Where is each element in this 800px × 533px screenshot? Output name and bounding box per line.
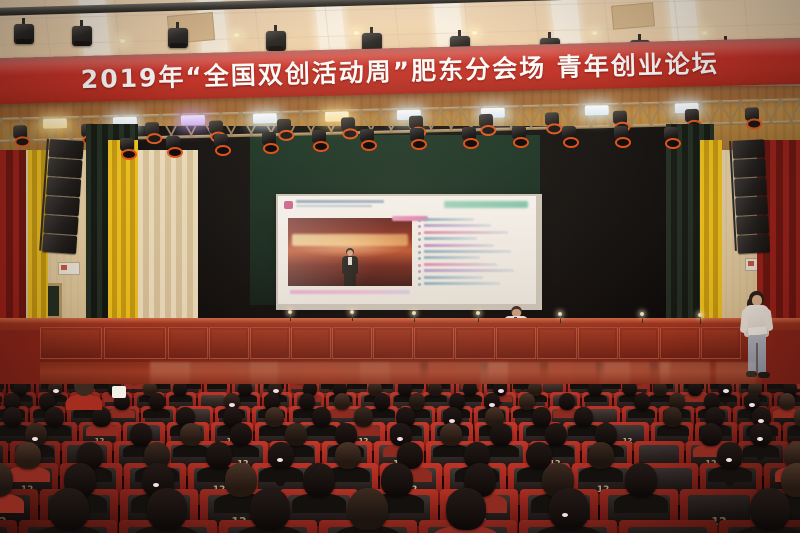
audience-head xyxy=(312,407,331,427)
microphone-head-7 xyxy=(698,313,702,317)
audience-head xyxy=(717,442,743,469)
seat xyxy=(619,520,717,533)
audience-head xyxy=(440,423,462,446)
audience-head xyxy=(779,393,795,410)
audience-hair-tie xyxy=(562,513,568,517)
woman-right-shoe xyxy=(758,372,770,378)
audience-head xyxy=(559,393,575,410)
stage-par-can-lower-1 xyxy=(120,138,134,156)
audience-head xyxy=(398,384,412,396)
microphone-row xyxy=(0,0,800,400)
woman-leg-gap xyxy=(756,343,758,373)
stage-par-can-lower-6 xyxy=(360,129,374,147)
audience-head xyxy=(688,384,702,396)
audience-head xyxy=(206,442,232,469)
stage-par-can-lower-3 xyxy=(214,134,228,152)
par-can-ring xyxy=(313,141,329,152)
par-can-ring xyxy=(263,143,279,154)
stage-par-can-lower-7 xyxy=(410,128,424,146)
audience-hair-tie xyxy=(153,483,159,487)
audience-head xyxy=(794,407,800,427)
seat-cushion xyxy=(628,527,706,533)
audience-head xyxy=(149,393,165,410)
audience-head xyxy=(634,393,650,410)
par-can-ring xyxy=(463,138,479,149)
par-can-ring xyxy=(167,147,183,158)
audience-head xyxy=(463,384,477,396)
audience-head xyxy=(354,407,373,427)
audience-head xyxy=(130,423,152,446)
audience-hair-tie xyxy=(749,403,755,407)
audience-head xyxy=(446,488,486,530)
audience-shoulders xyxy=(347,384,367,389)
floor-reflection-dark-2 xyxy=(480,362,488,380)
microphone-head-2 xyxy=(350,310,354,314)
microphone-head-5 xyxy=(558,312,562,316)
audience-head xyxy=(147,488,187,530)
floor-reflection-dark-5 xyxy=(650,362,658,380)
audience-head xyxy=(750,488,790,530)
audience-head xyxy=(238,384,252,396)
stage-par-can-lower-9 xyxy=(512,126,526,144)
audience-head xyxy=(268,442,294,469)
microphone-head-3 xyxy=(412,311,416,315)
audience-hair-tie xyxy=(489,403,495,407)
floor-reflection-dark-4 xyxy=(596,362,604,380)
par-can-ring xyxy=(615,137,631,148)
audience-head xyxy=(549,488,589,530)
par-can-ring xyxy=(665,138,681,149)
stage-par-can-lower-4 xyxy=(262,132,276,150)
stage-par-can-lower-2 xyxy=(166,136,180,154)
audience-shoulders xyxy=(124,384,144,389)
audience-head xyxy=(348,488,388,530)
audience-head xyxy=(180,423,202,446)
audience-shoulders xyxy=(207,384,227,389)
audience-head xyxy=(750,423,772,446)
audience-head xyxy=(663,407,682,427)
audience-hair-tie xyxy=(758,419,764,423)
par-can-ring xyxy=(411,139,427,150)
stage-par-can-lower-10 xyxy=(562,126,576,144)
audience-head xyxy=(299,393,315,410)
audience-head xyxy=(519,393,535,410)
audience-head xyxy=(303,463,335,497)
audience-head xyxy=(3,407,22,427)
stage-par-can-lower-11 xyxy=(614,126,628,144)
audience-head xyxy=(265,407,284,427)
seat-cushion xyxy=(0,527,7,533)
audience-hair-tie xyxy=(449,419,455,423)
stage-par-can-lower-12 xyxy=(664,127,678,145)
audience-head xyxy=(428,384,442,396)
audience-head xyxy=(781,463,800,497)
audience-head xyxy=(623,384,637,396)
audience-head xyxy=(490,423,512,446)
microphone-head-1 xyxy=(288,310,292,314)
audience-seating: 1212121212121212121212121212121212121212 xyxy=(0,384,800,533)
audience-head xyxy=(574,407,593,427)
audience-shoulders-back-left xyxy=(66,394,102,410)
audience-shoulders xyxy=(601,384,621,389)
floor-reflection-dark-3 xyxy=(540,362,548,380)
auditorium-photo: 2019年“全国双创活动周”肥东分会场 青年创业论坛 xyxy=(0,0,800,533)
audience-head xyxy=(700,423,722,446)
seat xyxy=(0,520,17,533)
audience-head xyxy=(588,384,602,396)
audience-head xyxy=(15,442,41,469)
stage-par-can-lower-5 xyxy=(312,130,326,148)
par-can-ring xyxy=(121,149,137,160)
par-can-ring xyxy=(361,140,377,151)
audience-head xyxy=(374,393,390,410)
stage-par-can-lower-8 xyxy=(462,127,476,145)
audience-shoulders xyxy=(570,384,590,389)
par-can-ring xyxy=(513,137,529,148)
microphone-head-6 xyxy=(640,312,644,316)
audience-head xyxy=(250,488,290,530)
audience-head xyxy=(173,384,187,396)
audience-head xyxy=(230,423,252,446)
par-can-ring xyxy=(563,137,579,148)
audience-head xyxy=(409,393,425,410)
audience-head xyxy=(381,463,413,497)
audience-shoulders xyxy=(0,384,4,389)
audience-head xyxy=(334,393,350,410)
audience-head xyxy=(225,463,257,497)
audience-paper xyxy=(112,386,126,398)
audience-head xyxy=(532,407,551,427)
audience-head xyxy=(588,442,614,469)
audience-hair-tie xyxy=(229,403,235,407)
audience-head xyxy=(45,407,64,427)
audience-head xyxy=(335,442,361,469)
audience-head xyxy=(49,488,89,530)
par-can-ring xyxy=(215,145,231,156)
audience-head xyxy=(545,423,567,446)
audience-head xyxy=(653,384,667,396)
floor-reflection-dark-1 xyxy=(420,362,428,380)
audience-head xyxy=(625,463,657,497)
audience-head xyxy=(285,423,307,446)
audience-rows: 1212121212121212121212121212121212121212 xyxy=(0,384,800,533)
microphone-head-4 xyxy=(476,311,480,315)
